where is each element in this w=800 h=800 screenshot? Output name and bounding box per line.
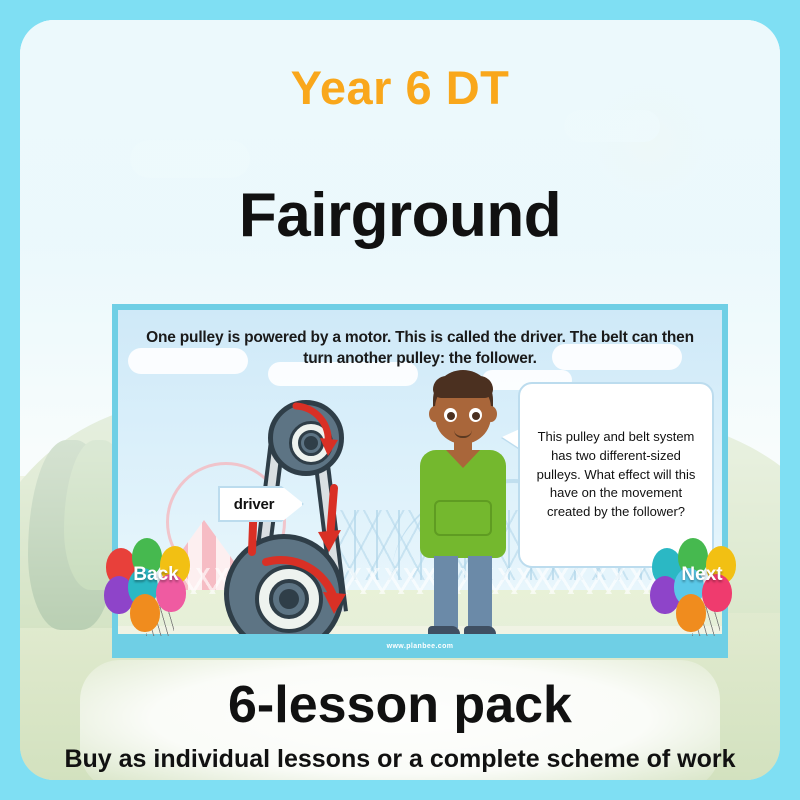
slide-heading: One pulley is powered by a motor. This i… <box>142 328 698 370</box>
back-button-label: Back <box>102 564 210 586</box>
pupil-right <box>472 412 480 420</box>
pulley-belt-diagram: driver follower <box>196 388 416 646</box>
next-button-label: Next <box>648 564 756 586</box>
balloon-icon <box>130 594 160 632</box>
screenshot-root: Year 6 DT Fairground One pulley is power… <box>0 0 800 800</box>
hoodie-pocket <box>434 500 492 536</box>
product-card: Year 6 DT Fairground One pulley is power… <box>20 20 780 780</box>
next-button[interactable]: Next <box>648 532 756 640</box>
watermark: www.planbee.com <box>118 643 722 650</box>
back-button[interactable]: Back <box>102 532 210 640</box>
page-title: Fairground <box>20 180 780 251</box>
balloon-icon <box>676 594 706 632</box>
leg-left <box>434 556 458 628</box>
year-subject-label: Year 6 DT <box>20 60 780 115</box>
pack-subtitle: Buy as individual lessons or a complete … <box>20 745 780 774</box>
hair-fringe <box>433 376 493 398</box>
pupil-left <box>447 412 455 420</box>
pack-title: 6-lesson pack <box>20 675 780 735</box>
leg-right <box>468 556 492 628</box>
student-character-illustration <box>408 370 518 642</box>
